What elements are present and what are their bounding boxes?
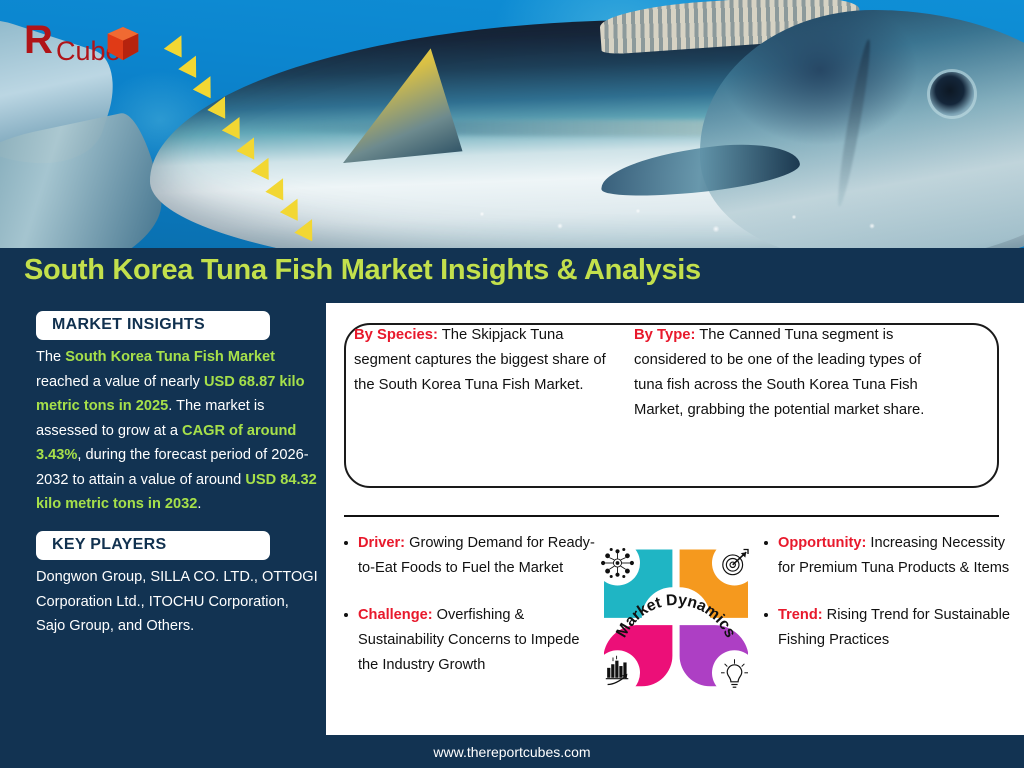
infographic-page: Я Cube South Korea Tuna Fish Market Insi…	[0, 0, 1024, 768]
footer: www.thereportcubes.com	[0, 735, 1024, 768]
insights-market-name: South Korea Tuna Fish Market	[65, 349, 275, 365]
market-insights-heading: MARKET INSIGHTS	[36, 311, 270, 340]
page-title: South Korea Tuna Fish Market Insights & …	[24, 254, 701, 287]
tuna-eye	[930, 72, 974, 116]
challenge-label: Challenge:	[358, 607, 433, 623]
trend-icon-disc	[712, 650, 757, 695]
key-players-heading: KEY PLAYERS	[36, 531, 270, 560]
list-item: Driver: Growing Demand for Ready-to-Eat …	[338, 531, 598, 581]
segment-by-type: By Type: The Canned Tuna segment is cons…	[634, 323, 944, 423]
driver-label: Driver:	[358, 535, 405, 551]
insights-text-5: .	[197, 496, 201, 512]
segment-by-species: By Species: The Skipjack Tuna segment ca…	[354, 323, 614, 398]
horizontal-divider	[344, 515, 999, 517]
sidebar: MARKET INSIGHTS The South Korea Tuna Fis…	[0, 303, 326, 735]
key-players-paragraph: Dongwon Group, SILLA CO. LTD., OTTOGI Co…	[36, 565, 322, 639]
market-insights-paragraph: The South Korea Tuna Fish Market reached…	[36, 345, 322, 517]
by-type-label: By Type:	[634, 327, 695, 343]
main-content-panel: By Species: The Skipjack Tuna segment ca…	[326, 303, 1024, 735]
dynamics-left-list: Driver: Growing Demand for Ready-to-Eat …	[338, 531, 598, 700]
dynamics-right-list: Opportunity: Increasing Necessity for Pr…	[758, 531, 1018, 675]
brand-logo[interactable]: Я Cube	[22, 18, 172, 72]
list-item: Challenge: Overfishing & Sustainability …	[338, 603, 598, 678]
insights-text-2: reached a value of nearly	[36, 374, 204, 390]
tuna-belly-speckles	[430, 190, 950, 248]
insights-text-1: The	[36, 349, 65, 365]
list-item: Trend: Rising Trend for Sustainable Fish…	[758, 603, 1018, 653]
list-item: Opportunity: Increasing Necessity for Pr…	[758, 531, 1018, 581]
cube-icon	[106, 26, 140, 62]
by-species-label: By Species:	[354, 327, 438, 343]
trend-label: Trend:	[778, 607, 823, 623]
market-dynamics-graphic: Market Dynamics	[586, 531, 766, 721]
opportunity-label: Opportunity:	[778, 535, 866, 551]
footer-website[interactable]: www.thereportcubes.com	[433, 744, 590, 760]
logo-r-letter: Я	[24, 18, 53, 63]
